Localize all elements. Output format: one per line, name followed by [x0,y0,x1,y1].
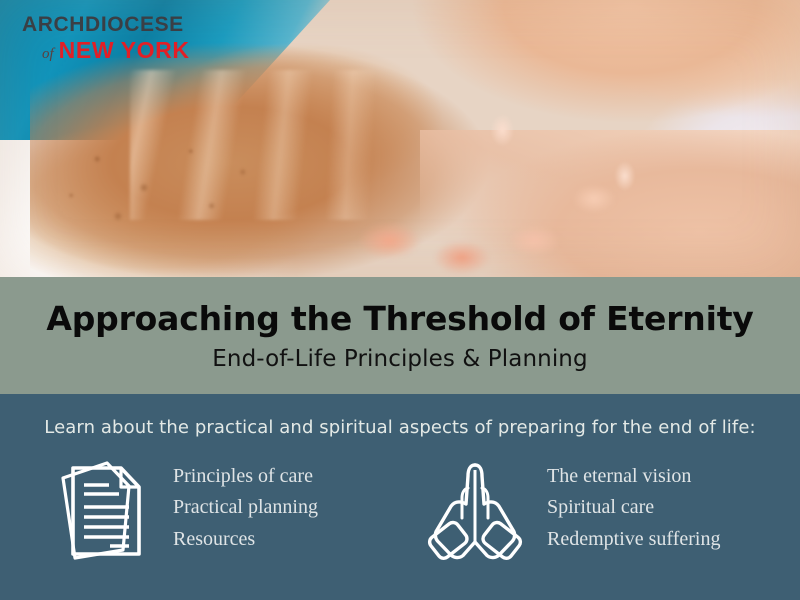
logo-archdiocese-text: ARCHDIOCESE [22,14,190,35]
praying-hands-icon [425,456,525,564]
list-item: Resources [173,525,318,553]
list-item: Practical planning [173,493,318,521]
page-title: Approaching the Threshold of Eternity [46,299,753,338]
lede-text: Learn about the practical and spiritual … [0,417,800,438]
topic-column-spiritual: The eternal vision Spiritual care Redemp… [400,456,800,564]
list-item: Redemptive suffering [547,525,720,553]
topic-columns: Principles of care Practical planning Re… [0,456,800,564]
list-item: Principles of care [173,462,318,490]
body-band: Learn about the practical and spiritual … [0,394,800,600]
topic-list-practical: Principles of care Practical planning Re… [173,456,318,553]
documents-icon [55,456,151,564]
poster: ARCHDIOCESE of NEW YORK Approaching the … [0,0,800,600]
logo-second-line: of NEW YORK [22,39,190,62]
list-item: The eternal vision [547,462,720,490]
list-item: Spiritual care [547,493,720,521]
archdiocese-logo: ARCHDIOCESE of NEW YORK [22,14,190,62]
page-subtitle: End-of-Life Principles & Planning [212,346,587,372]
banner-photo: ARCHDIOCESE of NEW YORK [0,0,800,277]
logo-of-text: of [42,47,54,62]
topic-column-practical: Principles of care Practical planning Re… [0,456,400,564]
title-band: Approaching the Threshold of Eternity En… [0,277,800,394]
topic-list-spiritual: The eternal vision Spiritual care Redemp… [547,456,720,553]
logo-new-york-text: NEW YORK [59,39,190,62]
